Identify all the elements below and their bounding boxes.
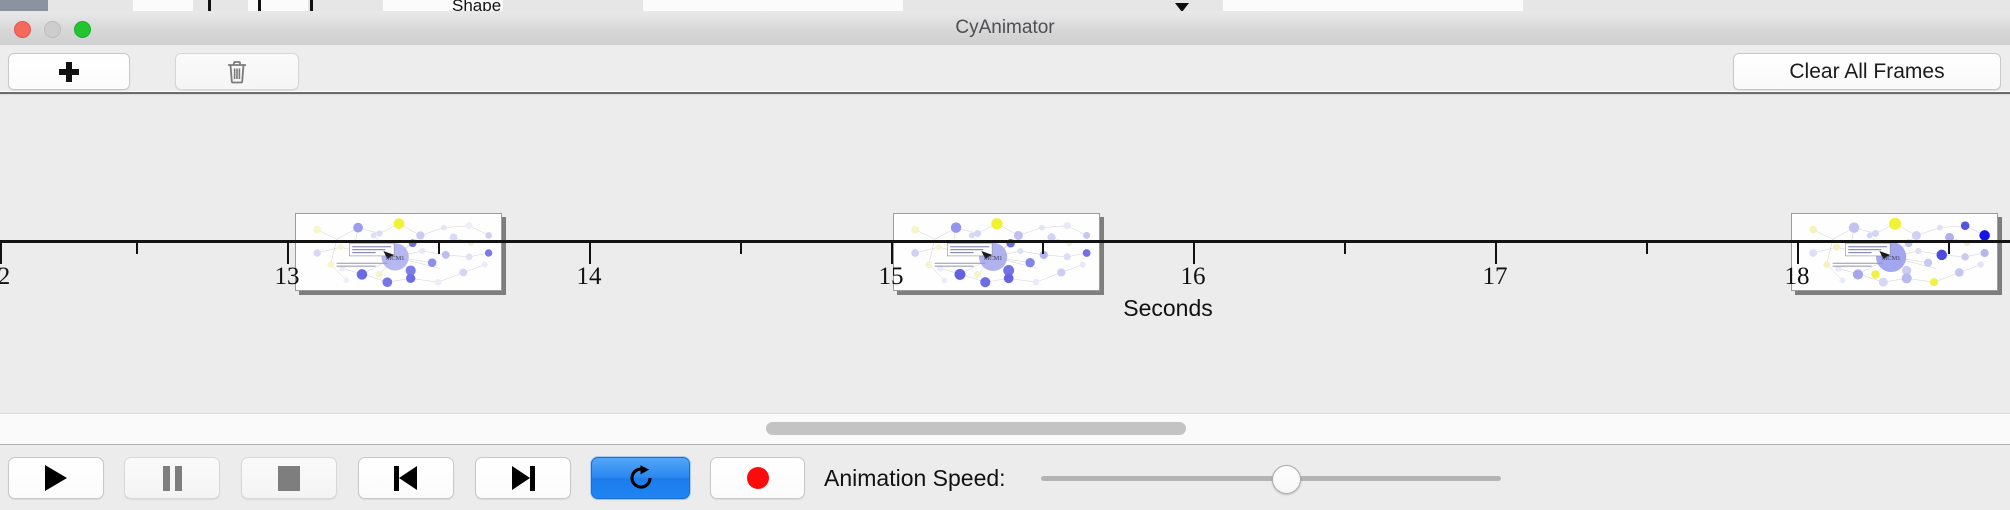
- axis-tick-minor: [740, 243, 742, 254]
- animation-speed-slider-thumb[interactable]: [1272, 465, 1301, 494]
- loop-button[interactable]: [591, 457, 690, 499]
- bg-window-block: [48, 0, 134, 11]
- axis-tick-label: 15: [879, 263, 904, 291]
- record-icon: [747, 467, 769, 489]
- bg-window-block: [503, 0, 644, 11]
- next-frame-button[interactable]: [475, 457, 571, 499]
- axis-tick-major: [0, 243, 2, 264]
- stop-icon: [278, 466, 300, 491]
- axis-tick-major: [1495, 243, 1497, 264]
- axis-tick-label: 14: [577, 263, 602, 291]
- axis-tick-minor: [1948, 243, 1950, 254]
- axis-tick-major: [1797, 243, 1799, 264]
- bg-window-block: [133, 0, 194, 11]
- axis-tick-label: 17: [1483, 263, 1508, 291]
- svg-text:MCM1: MCM1: [1882, 255, 1901, 262]
- animation-speed-label: Animation Speed:: [824, 446, 1006, 510]
- loop-icon: [627, 464, 655, 492]
- frame-thumbnail[interactable]: MCM1: [295, 213, 502, 291]
- bg-tick-mark: [208, 0, 211, 11]
- timeline-axis: [0, 240, 2010, 243]
- previous-frame-button[interactable]: [358, 457, 454, 499]
- timeline-panel[interactable]: MCM1: [0, 95, 2010, 413]
- record-button[interactable]: [710, 457, 805, 499]
- bg-window-block: [1223, 0, 1524, 11]
- axis-tick-minor: [438, 243, 440, 254]
- scrollbar-thumb[interactable]: [766, 422, 1186, 435]
- delete-frame-button[interactable]: [175, 53, 299, 90]
- bg-window-block: [308, 0, 384, 11]
- axis-tick-label: 13: [275, 263, 300, 291]
- axis-tick-major: [1193, 243, 1195, 264]
- bg-window-block: [0, 0, 49, 11]
- window-title: CyAnimator: [0, 11, 2010, 44]
- axis-tick-label: 18: [1785, 263, 1810, 291]
- axis-tick-major: [589, 243, 591, 264]
- title-bar[interactable]: CyAnimator: [0, 11, 2010, 46]
- bg-tick-mark: [310, 0, 313, 11]
- clear-all-frames-button[interactable]: Clear All Frames: [1733, 53, 2001, 90]
- stop-button[interactable]: [241, 457, 337, 499]
- axis-tick-minor: [136, 243, 138, 254]
- plus-icon: [59, 62, 79, 82]
- pause-button[interactable]: [124, 457, 220, 499]
- axis-tick-major: [891, 243, 893, 264]
- add-frame-button[interactable]: [8, 53, 130, 90]
- frame-thumbnail[interactable]: MCM1: [893, 213, 1100, 291]
- play-icon: [45, 465, 67, 491]
- axis-tick-minor: [1344, 243, 1346, 254]
- bg-tick-mark: [258, 0, 261, 11]
- network-thumbnail-image: MCM1: [1792, 214, 1997, 290]
- bg-window-block: [193, 0, 249, 11]
- network-thumbnail-image: MCM1: [894, 214, 1099, 290]
- skip-back-icon: [394, 466, 418, 491]
- svg-text:MCM1: MCM1: [984, 255, 1003, 262]
- axis-title: Seconds: [1123, 295, 1213, 322]
- horizontal-scrollbar[interactable]: [0, 413, 2010, 445]
- playback-control-bar: Animation Speed:: [0, 446, 2010, 510]
- axis-tick-minor: [1042, 243, 1044, 254]
- frame-thumbnail[interactable]: MCM1: [1791, 213, 1998, 291]
- skip-forward-icon: [511, 466, 535, 491]
- toolbar: Clear All Frames: [0, 45, 2010, 91]
- pause-icon: [163, 466, 182, 491]
- play-button[interactable]: [8, 457, 104, 499]
- svg-text:MCM1: MCM1: [386, 255, 405, 262]
- trash-icon: [226, 60, 248, 84]
- cyanimator-window: Shape CyAnimator Clear All Frames: [0, 0, 2010, 510]
- axis-tick-major: [287, 243, 289, 264]
- axis-tick-label: 2: [0, 263, 10, 291]
- axis-tick-label: 16: [1181, 263, 1206, 291]
- network-thumbnail-image: MCM1: [296, 214, 501, 290]
- clear-all-frames-label: Clear All Frames: [1789, 60, 1944, 84]
- bg-window-block: [643, 0, 904, 11]
- bg-window-block: [1523, 0, 2010, 11]
- axis-tick-minor: [1646, 243, 1648, 254]
- animation-speed-slider[interactable]: [1041, 476, 1501, 481]
